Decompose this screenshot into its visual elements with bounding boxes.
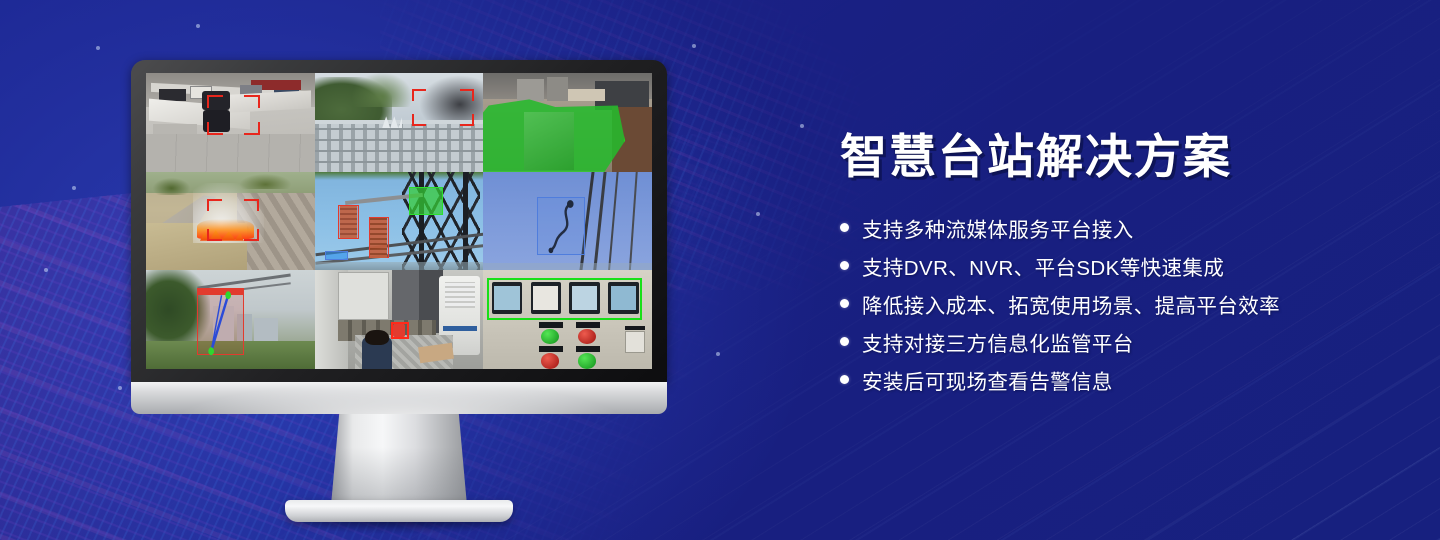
feature-text: 降低接入成本、拓宽使用场景、提高平台效率 [862,289,1280,319]
detection-object-box [537,197,584,254]
video-tile-transmission-tower[interactable] [315,172,484,271]
video-tile-control-room[interactable] [146,73,315,172]
monitor-stand-base [285,500,513,522]
feature-list: 支持多种流媒体服务平台接入 支持DVR、NVR、平台SDK等快速集成 降低接入成… [840,209,1400,399]
detection-bracket-icon [207,229,222,241]
tilt-measure-icon [197,290,244,355]
page-title: 智慧台站解决方案 [840,132,1400,183]
list-item: 支持多种流媒体服务平台接入 [840,209,1400,247]
video-wall[interactable] [146,73,652,369]
detection-bracket-icon [412,89,426,101]
detection-bracket-icon [207,95,223,108]
feature-text: 支持多种流媒体服务平台接入 [862,213,1134,243]
bullet-dot-icon [840,337,849,346]
detection-bracket-icon [244,95,260,108]
bullet-dot-icon [840,299,849,308]
video-tile-equipment-room[interactable] [315,270,484,369]
video-tile-powerline-object[interactable] [483,172,652,271]
detection-bracket-icon [244,229,259,241]
bullet-dot-icon [840,375,849,384]
bullet-dot-icon [840,261,849,270]
bullet-dot-icon [840,223,849,232]
video-tile-construction-yard[interactable] [483,73,652,172]
feature-text: 支持DVR、NVR、平台SDK等快速集成 [862,251,1224,281]
monitor-stand-neck [331,414,467,506]
content-panel: 智慧台站解决方案 支持多种流媒体服务平台接入 支持DVR、NVR、平台SDK等快… [840,132,1400,399]
detection-bracket-icon [460,114,474,126]
detection-bracket-icon [244,122,260,135]
list-item: 安装后可现场查看告警信息 [840,361,1400,399]
detection-bracket-icon [207,122,223,135]
detection-bracket-icon [412,114,426,126]
feature-text: 安装后可现场查看告警信息 [862,365,1113,395]
detection-bracket-icon [460,89,474,101]
video-tile-pole-tilt[interactable] [146,270,315,369]
video-tile-control-panel[interactable] [483,270,652,369]
list-item: 支持对接三方信息化监管平台 [840,323,1400,361]
monitor [131,60,667,492]
feature-text: 支持对接三方信息化监管平台 [862,327,1134,357]
detection-small-box [325,251,349,261]
detection-bracket-icon [244,199,259,211]
detection-nest-box [409,187,443,215]
detection-bracket-icon [207,199,222,211]
video-tile-fire-smoke[interactable] [146,172,315,271]
video-tile-perimeter-fence[interactable] [315,73,484,172]
banner-stage: 智慧台站解决方案 支持多种流媒体服务平台接入 支持DVR、NVR、平台SDK等快… [0,0,1440,540]
list-item: 支持DVR、NVR、平台SDK等快速集成 [840,247,1400,285]
list-item: 降低接入成本、拓宽使用场景、提高平台效率 [840,285,1400,323]
monitor-chin [131,382,667,414]
